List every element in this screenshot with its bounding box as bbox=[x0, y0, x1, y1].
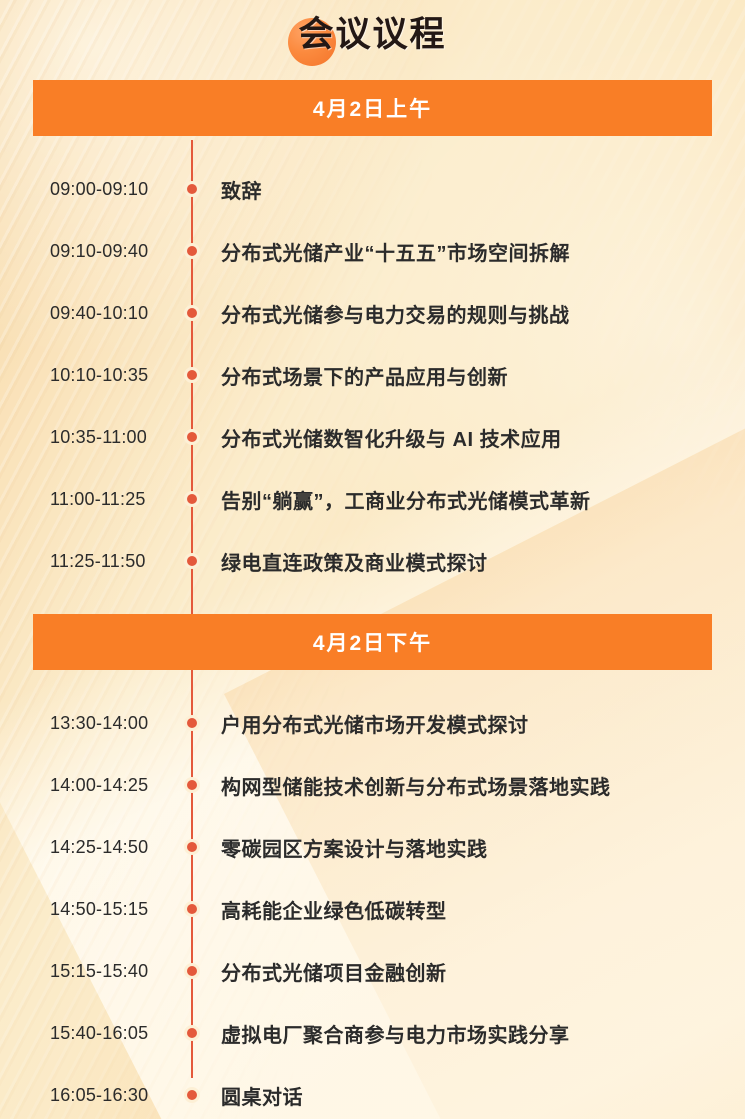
row-topic: 户用分布式光储市场开发模式探讨 bbox=[221, 709, 725, 738]
poster-content: 会议议程 4月2日上午 09:00-09:10 致辞 09:10-09:40 分… bbox=[0, 0, 745, 1119]
agenda-rows-morning: 09:00-09:10 致辞 09:10-09:40 分布式光储产业“十五五”市… bbox=[0, 158, 745, 592]
agenda-poster: 会议议程 4月2日上午 09:00-09:10 致辞 09:10-09:40 分… bbox=[0, 0, 745, 1119]
row-topic: 绿电直连政策及商业模式探讨 bbox=[221, 547, 725, 576]
timeline-dot-icon bbox=[184, 1025, 200, 1041]
timeline-dot-icon bbox=[184, 839, 200, 855]
section-header-morning: 4月2日上午 bbox=[33, 80, 712, 136]
row-time: 14:00-14:25 bbox=[50, 775, 180, 796]
agenda-rows-afternoon: 13:30-14:00 户用分布式光储市场开发模式探讨 14:00-14:25 … bbox=[0, 692, 745, 1119]
timeline-dot-icon bbox=[184, 963, 200, 979]
table-row[interactable]: 16:05-16:30 圆桌对话 bbox=[0, 1064, 745, 1119]
table-row[interactable]: 15:40-16:05 虚拟电厂聚合商参与电力市场实践分享 bbox=[0, 1002, 745, 1064]
row-time: 14:50-15:15 bbox=[50, 899, 180, 920]
table-row[interactable]: 14:00-14:25 构网型储能技术创新与分布式场景落地实践 bbox=[0, 754, 745, 816]
table-row[interactable]: 11:00-11:25 告别“躺赢”，工商业分布式光储模式革新 bbox=[0, 468, 745, 530]
row-time: 15:15-15:40 bbox=[50, 961, 180, 982]
timeline-dot-icon bbox=[184, 553, 200, 569]
row-time: 16:05-16:30 bbox=[50, 1085, 180, 1106]
timeline-dot-icon bbox=[184, 429, 200, 445]
row-time: 10:10-10:35 bbox=[50, 365, 180, 386]
section-header-morning-label: 4月2日上午 bbox=[313, 93, 432, 123]
table-row[interactable]: 10:10-10:35 分布式场景下的产品应用与创新 bbox=[0, 344, 745, 406]
row-time: 13:30-14:00 bbox=[50, 713, 180, 734]
timeline-dot-icon bbox=[184, 305, 200, 321]
timeline-dot-icon bbox=[184, 491, 200, 507]
row-time: 09:40-10:10 bbox=[50, 303, 180, 324]
row-topic: 虚拟电厂聚合商参与电力市场实践分享 bbox=[221, 1019, 725, 1048]
timeline-dot-icon bbox=[184, 243, 200, 259]
timeline-dot-icon bbox=[184, 715, 200, 731]
section-header-afternoon-label: 4月2日下午 bbox=[313, 627, 432, 657]
table-row[interactable]: 09:40-10:10 分布式光储参与电力交易的规则与挑战 bbox=[0, 282, 745, 344]
timeline-dot-icon bbox=[184, 367, 200, 383]
row-topic: 分布式光储数智化升级与 AI 技术应用 bbox=[221, 423, 725, 452]
row-time: 14:25-14:50 bbox=[50, 837, 180, 858]
row-time: 11:25-11:50 bbox=[50, 551, 180, 572]
row-time: 09:00-09:10 bbox=[50, 179, 180, 200]
table-row[interactable]: 14:25-14:50 零碳园区方案设计与落地实践 bbox=[0, 816, 745, 878]
timeline-dot-icon bbox=[184, 181, 200, 197]
timeline-dot-icon bbox=[184, 777, 200, 793]
timeline-dot-icon bbox=[184, 1087, 200, 1103]
timeline-dot-icon bbox=[184, 901, 200, 917]
table-row[interactable]: 11:25-11:50 绿电直连政策及商业模式探讨 bbox=[0, 530, 745, 592]
row-time: 09:10-09:40 bbox=[50, 241, 180, 262]
table-row[interactable]: 10:35-11:00 分布式光储数智化升级与 AI 技术应用 bbox=[0, 406, 745, 468]
row-topic: 告别“躺赢”，工商业分布式光储模式革新 bbox=[221, 485, 725, 514]
row-topic: 分布式场景下的产品应用与创新 bbox=[221, 361, 725, 390]
row-topic: 高耗能企业绿色低碳转型 bbox=[221, 895, 725, 924]
row-topic: 零碳园区方案设计与落地实践 bbox=[221, 833, 725, 862]
table-row[interactable]: 14:50-15:15 高耗能企业绿色低碳转型 bbox=[0, 878, 745, 940]
row-topic: 致辞 bbox=[221, 175, 725, 204]
poster-header: 会议议程 bbox=[0, 0, 745, 80]
row-topic: 分布式光储参与电力交易的规则与挑战 bbox=[221, 299, 725, 328]
row-topic: 分布式光储项目金融创新 bbox=[221, 957, 725, 986]
table-row[interactable]: 09:10-09:40 分布式光储产业“十五五”市场空间拆解 bbox=[0, 220, 745, 282]
table-row[interactable]: 15:15-15:40 分布式光储项目金融创新 bbox=[0, 940, 745, 1002]
row-time: 15:40-16:05 bbox=[50, 1023, 180, 1044]
row-topic: 圆桌对话 bbox=[221, 1081, 725, 1110]
page-title: 会议议程 bbox=[0, 13, 745, 57]
row-time: 10:35-11:00 bbox=[50, 427, 180, 448]
table-row[interactable]: 13:30-14:00 户用分布式光储市场开发模式探讨 bbox=[0, 692, 745, 754]
section-header-afternoon: 4月2日下午 bbox=[33, 614, 712, 670]
row-topic: 分布式光储产业“十五五”市场空间拆解 bbox=[221, 237, 725, 266]
row-topic: 构网型储能技术创新与分布式场景落地实践 bbox=[221, 771, 725, 800]
table-row[interactable]: 09:00-09:10 致辞 bbox=[0, 158, 745, 220]
row-time: 11:00-11:25 bbox=[50, 489, 180, 510]
